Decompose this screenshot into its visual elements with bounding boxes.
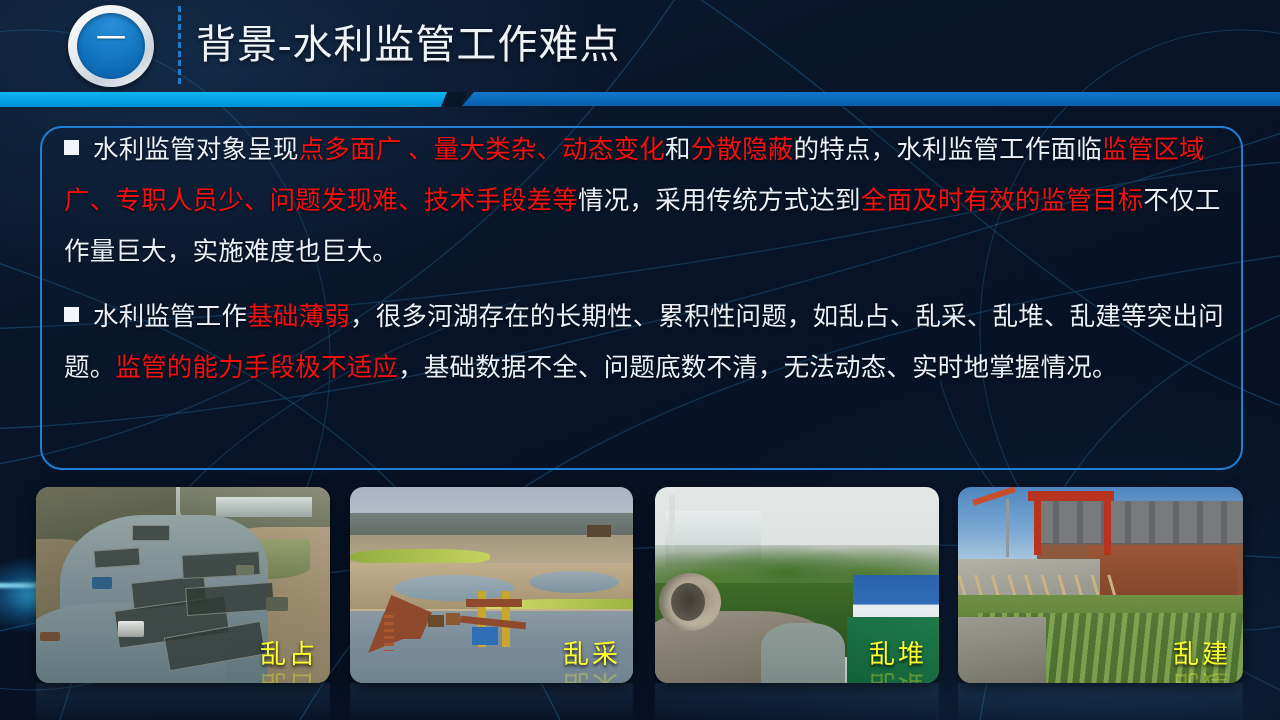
bullet-square-icon bbox=[64, 307, 79, 322]
photo2-debris bbox=[446, 613, 460, 625]
p2-run-1: 基础薄弱 bbox=[247, 302, 350, 331]
photo1-building bbox=[216, 497, 312, 517]
photo1-boat bbox=[236, 565, 254, 575]
p2-run-4: ，基础数据不全、问题底数不清，无法动态、实时地掌握情况。 bbox=[398, 353, 1118, 382]
p1-run-4: 的特点，水利监管工作面临 bbox=[794, 135, 1102, 164]
photo-caption-reflection: 乱采 bbox=[563, 669, 621, 683]
photo2-blue-barge bbox=[472, 627, 498, 645]
photo-sand-mining[interactable]: 乱采 乱采 bbox=[350, 487, 633, 683]
header-dashed-divider bbox=[178, 6, 181, 84]
photo-caption: 乱堆 bbox=[869, 641, 927, 669]
p2-run-3: 监管的能力手段极不适应 bbox=[115, 353, 398, 382]
photo-caption: 乱采 bbox=[563, 641, 621, 669]
p1-run-2: 和 bbox=[665, 135, 691, 164]
section-number-badge: 一 bbox=[68, 5, 154, 87]
photo2-dredger-beam bbox=[466, 599, 522, 607]
p1-run-1: 点多面广 、量大类杂、动态变化 bbox=[299, 135, 665, 164]
p2-run-0: 水利监管工作 bbox=[93, 302, 247, 331]
photo-reflection bbox=[958, 683, 1243, 720]
photo-reflection bbox=[36, 683, 330, 720]
header-accent-bar-cyan bbox=[0, 92, 452, 107]
photo3-stream bbox=[761, 623, 845, 683]
page-title: 背景-水利监管工作难点 bbox=[196, 10, 620, 80]
photo-caption: 乱占 bbox=[260, 641, 318, 669]
photo4-rubble bbox=[958, 617, 1046, 683]
photo2-pond bbox=[529, 571, 619, 593]
photo2-excavator bbox=[587, 525, 611, 537]
photo4-roofs bbox=[1035, 501, 1243, 543]
p1-run-6: 情况，采用传统方式达到 bbox=[578, 186, 861, 215]
photo-reflection bbox=[350, 683, 633, 720]
photo-river-occupation[interactable]: 乱占 乱占 bbox=[36, 487, 330, 683]
photo-debris-dumping[interactable]: 乱堆 乱堆 bbox=[655, 487, 939, 683]
photo1-boat bbox=[92, 577, 112, 589]
photo2-pond bbox=[394, 575, 514, 601]
photo1-fish-cage bbox=[132, 525, 170, 541]
slide-header: 一 背景-水利监管工作难点 bbox=[0, 0, 1280, 90]
content-panel: 水利监管对象呈现点多面广 、量大类杂、动态变化和分散隐蔽的特点，水利监管工作面临… bbox=[40, 126, 1243, 470]
photo3-concrete-pipe-opening bbox=[671, 583, 705, 621]
bullet-square-icon bbox=[64, 140, 79, 155]
photo1-boat bbox=[40, 632, 60, 641]
section-number-badge-inner: 一 bbox=[77, 13, 145, 79]
photo4-gantry-crane-leg bbox=[1034, 497, 1041, 555]
photo1-fish-cage bbox=[93, 547, 140, 568]
header-accent-bar-blue bbox=[462, 92, 1280, 106]
section-number-glyph: 一 bbox=[96, 25, 126, 55]
p1-run-7: 全面及时有效的监管目标 bbox=[861, 186, 1144, 215]
slide: 一 背景-水利监管工作难点 水利监管对象呈现点多面广 、量大类杂、动态变化和分散… bbox=[0, 0, 1280, 720]
paragraph-1: 水利监管对象呈现点多面广 、量大类杂、动态变化和分散隐蔽的特点，水利监管工作面临… bbox=[64, 124, 1226, 277]
photo-reflection bbox=[655, 683, 939, 720]
photo-illegal-construction[interactable]: 乱建 乱建 bbox=[958, 487, 1243, 683]
photo4-gantry-crane-leg bbox=[1104, 497, 1111, 555]
photo1-boat bbox=[266, 597, 288, 611]
photo2-debris bbox=[428, 615, 444, 627]
photo4-utility-pole bbox=[1006, 499, 1009, 557]
photo-strip: 乱占 乱占 乱采 乱采 bbox=[0, 487, 1280, 687]
photo-caption: 乱建 bbox=[1173, 641, 1231, 669]
paragraph-2: 水利监管工作基础薄弱，很多河湖存在的长期性、累积性问题，如乱占、乱采、乱堆、乱建… bbox=[64, 291, 1226, 393]
header-accent-bar bbox=[0, 92, 1280, 107]
p1-run-3: 分散隐蔽 bbox=[691, 135, 794, 164]
photo-caption-reflection: 乱占 bbox=[260, 669, 318, 683]
photo-caption-reflection: 乱堆 bbox=[869, 669, 927, 683]
photo-caption-reflection: 乱建 bbox=[1173, 669, 1231, 683]
photo1-boat bbox=[118, 621, 144, 637]
photo3-concrete-pipe bbox=[659, 573, 721, 631]
p1-run-0: 水利监管对象呈现 bbox=[93, 135, 299, 164]
photo2-dredger-ladder bbox=[384, 615, 394, 651]
